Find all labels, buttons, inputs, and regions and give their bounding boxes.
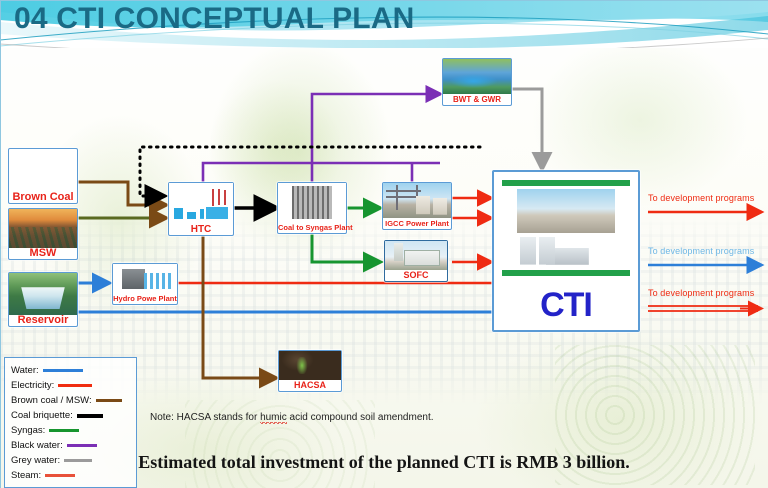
htc-plant-photo-icon xyxy=(169,183,233,224)
legend-item: Coal briquette: xyxy=(11,408,130,423)
legend-swatch-coal-briquette xyxy=(77,414,103,418)
legend-item: Electricity: xyxy=(11,378,130,393)
node-brown-coal[interactable]: Brown Coal xyxy=(8,148,78,204)
legend-swatch-brown-coal xyxy=(96,399,122,402)
node-label: Brown Coal xyxy=(9,192,77,203)
node-hydro-power-plant[interactable]: Hydro Powe Plant xyxy=(112,263,178,305)
node-igcc-power-plant[interactable]: IGCC Power Plant xyxy=(382,182,452,230)
legend-label: Water: xyxy=(11,365,39,376)
legend-label: Syngas: xyxy=(11,425,45,436)
legend-item: Black water: xyxy=(11,438,130,453)
legend-item: Syngas: xyxy=(11,423,130,438)
note-underlined-word: humic xyxy=(260,412,287,424)
node-label: Reservoir xyxy=(9,315,77,326)
node-hacsa[interactable]: HACSA xyxy=(278,350,342,392)
note-suffix: acid compound soil amendment. xyxy=(287,412,434,423)
municipal-solid-waste-photo-icon xyxy=(9,209,77,248)
cti-industrial-photo-icon xyxy=(502,186,630,270)
node-label: HTC xyxy=(169,224,233,235)
sofc-plant-photo-icon xyxy=(385,241,447,270)
node-bwt-gwr[interactable]: BWT & GWR xyxy=(442,58,512,106)
node-label: MSW xyxy=(9,248,77,259)
legend-item: Brown coal / MSW: xyxy=(11,393,130,408)
node-reservoir[interactable]: Reservoir xyxy=(8,272,78,327)
output-label-water: To development programs xyxy=(648,246,754,256)
node-label: Coal to Syngas Plant xyxy=(278,222,346,233)
output-label-electricity: To development programs xyxy=(648,193,754,203)
node-sofc[interactable]: SOFC xyxy=(384,240,448,282)
legend-item: Water: xyxy=(11,363,130,378)
node-label: Hydro Powe Plant xyxy=(113,293,177,304)
node-cti[interactable]: CTI xyxy=(492,170,640,332)
node-label: IGCC Power Plant xyxy=(383,218,451,229)
node-coal-to-syngas-plant[interactable]: Coal to Syngas Plant xyxy=(277,182,347,234)
reservoir-dam-photo-icon xyxy=(9,273,77,315)
legend-label: Brown coal / MSW: xyxy=(11,395,92,406)
legend-label: Black water: xyxy=(11,440,63,451)
water-treatment-photo-icon xyxy=(443,59,511,94)
hacsa-note: Note: HACSA stands for humic acid compou… xyxy=(150,412,434,423)
node-label: HACSA xyxy=(279,380,341,391)
node-htc[interactable]: HTC xyxy=(168,182,234,236)
igcc-power-plant-photo-icon xyxy=(383,183,451,218)
cti-green-panel xyxy=(502,180,630,276)
page-title: 04 CTI CONCEPTUAL PLAN xyxy=(14,2,415,36)
legend-label: Electricity: xyxy=(11,380,54,391)
output-label-steam: To development programs xyxy=(648,288,754,298)
slide-canvas: 04 CTI CONCEPTUAL PLAN xyxy=(0,0,768,488)
legend-swatch-electricity xyxy=(58,384,92,387)
seedling-soil-photo-icon xyxy=(279,351,341,380)
node-label: SOFC xyxy=(385,270,447,281)
node-msw[interactable]: MSW xyxy=(8,208,78,260)
syngas-plant-photo-icon xyxy=(278,183,346,222)
legend-label: Coal briquette: xyxy=(11,410,73,421)
coal-pile-photo-icon xyxy=(9,149,77,192)
hydro-power-plant-photo-icon xyxy=(113,264,177,293)
note-prefix: Note: HACSA stands for xyxy=(150,412,260,423)
legend-swatch-steam xyxy=(45,474,75,477)
legend-swatch-black-water xyxy=(67,444,97,447)
investment-statement: Estimated total investment of the planne… xyxy=(0,452,768,473)
node-label: CTI xyxy=(540,288,592,322)
node-label: BWT & GWR xyxy=(443,94,511,105)
legend-swatch-water xyxy=(43,369,83,372)
legend-swatch-syngas xyxy=(49,429,79,432)
header-banner: 04 CTI CONCEPTUAL PLAN xyxy=(0,0,768,48)
